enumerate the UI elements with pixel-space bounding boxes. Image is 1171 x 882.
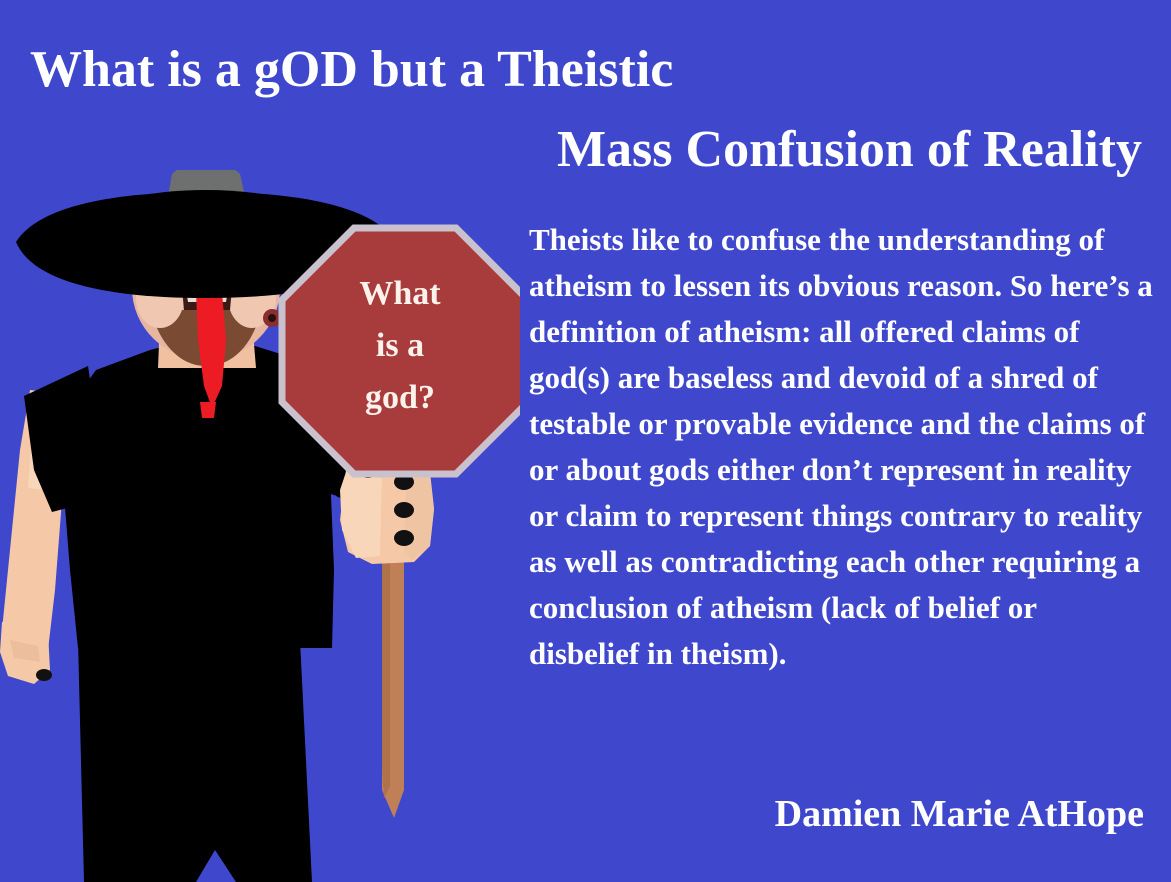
body-paragraph: Theists like to confuse the understandin… [529, 217, 1154, 677]
page-title: What is a gOD but a Theistic Mass Confus… [0, 30, 1160, 190]
fingernail-icon-4 [394, 530, 414, 546]
stop-sign [282, 228, 520, 474]
figure-svg [0, 170, 520, 882]
headline-line-1: What is a gOD but a Theistic [0, 30, 1160, 110]
left-thumb-nail-icon [36, 669, 52, 681]
fingernail-icon-3 [394, 502, 414, 518]
legs-group [78, 640, 312, 882]
poster-canvas: What is a gOD but a Theistic Mass Confus… [0, 0, 1171, 882]
author-signature: Damien Marie AtHope [529, 790, 1144, 838]
figure-illustration [0, 170, 520, 882]
